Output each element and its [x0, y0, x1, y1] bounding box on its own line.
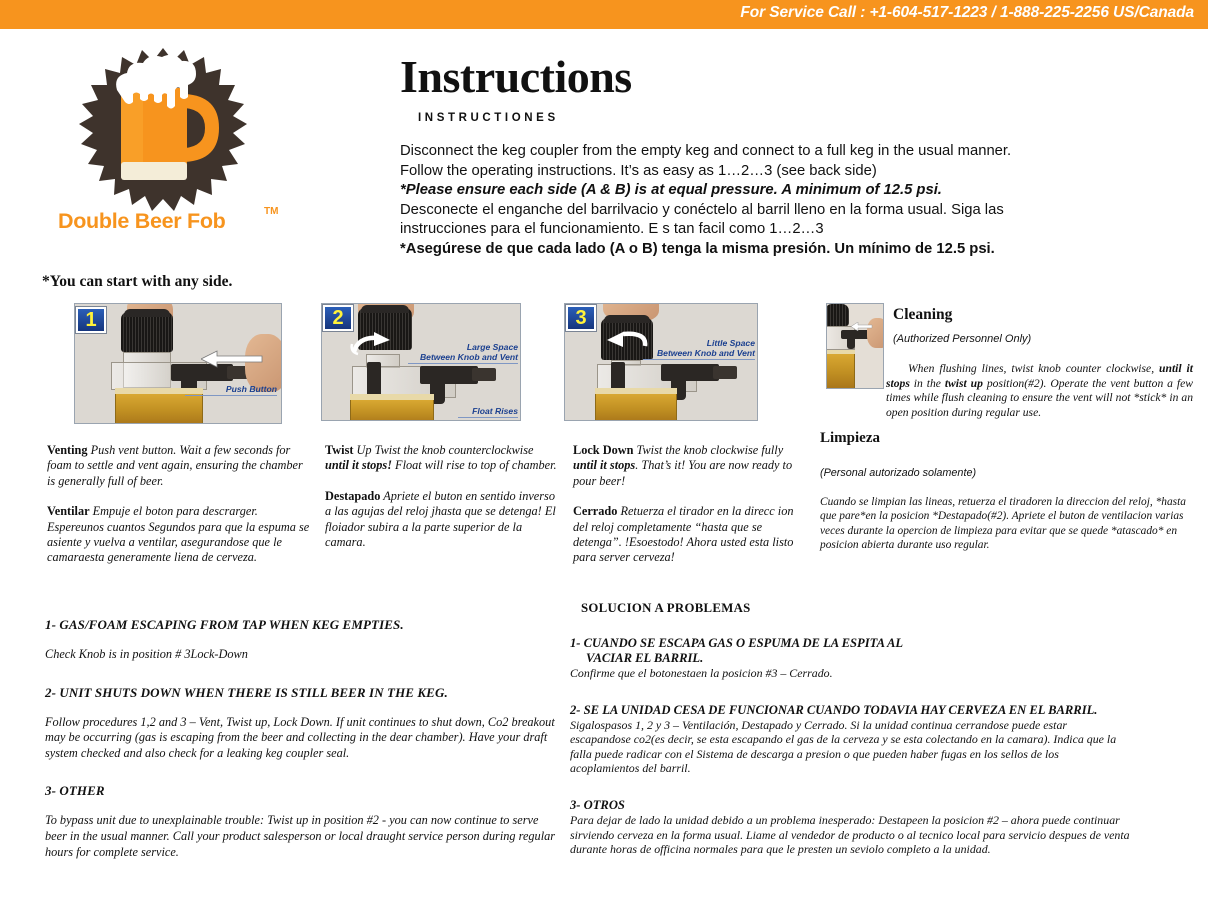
header-line-6-pressure-warning-spanish: *Asegúrese de que cada lado (A o B) teng… — [400, 240, 1190, 260]
left-arrow-icon — [851, 322, 873, 331]
trouble-en-head-2: 2- UNIT SHUTS DOWN WHEN THERE IS STILL B… — [45, 685, 557, 701]
trouble-en-item-2: 2- UNIT SHUTS DOWN WHEN THERE IS STILL B… — [45, 685, 557, 762]
spout-graphic — [661, 364, 719, 381]
step-badge-2: 2 — [323, 305, 353, 331]
knob-top-graphic — [361, 305, 409, 313]
instructions-header: Instructions INSTRUCTIONES Disconnect th… — [400, 50, 1190, 259]
limpieza-subtitle: (Personal autorizado solamente) — [820, 467, 1192, 479]
trademark-symbol: TM — [264, 206, 278, 217]
header-line-3-pressure-warning: *Please ensure each side (A & B) is at e… — [400, 181, 1190, 201]
left-arrow-icon — [201, 350, 263, 368]
cleaning-subtitle: (Authorized Personnel Only) — [893, 333, 1193, 345]
spout-graphic — [420, 366, 478, 384]
step-3-description: Lock Down Twist the knob clockwise fully… — [573, 443, 805, 566]
trouble-es-body-1: Confirme que el botonestaen la posicion … — [570, 666, 1130, 681]
step-1-es: Ventilar Empuje el boton para descrarger… — [47, 504, 310, 566]
cleaning-photo-thumbnail — [826, 303, 884, 389]
limpieza-title: Limpieza — [820, 430, 1192, 447]
clockwise-arrow-icon — [597, 330, 649, 354]
trouble-en-head-1: 1- GAS/FOAM ESCAPING FROM TAP WHEN KEG E… — [45, 617, 557, 633]
trouble-es-body-2: Sigalospasos 1, 2 y 3 – Ventilación, Des… — [570, 718, 1130, 776]
starburst-logo-icon — [72, 46, 254, 214]
step-3-es: Cerrado Retuerza el tirador en la direcc… — [573, 504, 805, 566]
panel-2-label-float-rises: Float Rises — [458, 406, 518, 418]
step-badge-3: 3 — [566, 305, 596, 331]
page-title-spanish: INSTRUCTIONES — [418, 112, 1190, 124]
header-line-4: Desconecte el enganche del barrilvacio y… — [400, 201, 1190, 221]
panel-2-label-large-space: Large SpaceBetween Knob and Vent — [408, 342, 518, 364]
step-1-en: Venting Push vent button. Wait a few sec… — [47, 443, 310, 489]
service-call-bar: For Service Call : +1-604-517-1223 / 1-8… — [0, 0, 1208, 29]
troubleshooting-spanish: SOLUCION A PROBLEMAS 1- CUANDO SE ESCAPA… — [570, 601, 1130, 857]
limpieza-body: Cuando se limpian las lineas, retuerza e… — [820, 495, 1192, 552]
knob-graphic — [826, 304, 849, 326]
troubleshooting-english: 1- GAS/FOAM ESCAPING FROM TAP WHEN KEG E… — [45, 617, 557, 882]
panel-3-label-little-space: Little SpaceBetween Knob and Vent — [643, 338, 755, 360]
step-badge-1: 1 — [76, 307, 106, 333]
trouble-es-head-1: 1- CUANDO SE ESCAPA GAS O ESPUMA DE LA E… — [570, 636, 1130, 666]
logo-wordmark: Double Beer Fob — [58, 209, 288, 234]
troubleshooting-spanish-title: SOLUCION A PROBLEMAS — [581, 601, 1130, 616]
trouble-es-item-1: 1- CUANDO SE ESCAPA GAS O ESPUMA DE LA E… — [570, 636, 1130, 681]
beer-liquid-graphic — [115, 394, 203, 424]
step-2-es: Destapado Apriete el buton en sentido in… — [325, 489, 560, 551]
vent-button-graphic — [713, 366, 737, 379]
knob-top-graphic — [604, 315, 650, 323]
step-2-en: Twist Up Twist the knob counterclockwise… — [325, 443, 560, 474]
service-call-text: For Service Call : +1-604-517-1223 / 1-8… — [740, 4, 1194, 22]
trouble-en-item-1: 1- GAS/FOAM ESCAPING FROM TAP WHEN KEG E… — [45, 617, 557, 663]
cleaning-section: Cleaning (Authorized Personnel Only) Whe… — [893, 306, 1193, 345]
beer-liquid-graphic — [595, 394, 677, 421]
trouble-en-body-1: Check Knob is in position # 3Lock-Down — [45, 647, 557, 663]
header-paragraphs: Disconnect the keg coupler from the empt… — [400, 142, 1190, 259]
knob-graphic — [121, 312, 173, 352]
trouble-es-body-3: Para dejar de lado la unidad debido a un… — [570, 813, 1130, 857]
start-any-side-note: *You can start with any side. — [42, 273, 232, 291]
header-line-2: Follow the operating instructions. It’s … — [400, 162, 1190, 182]
trouble-en-head-3: 3- OTHER — [45, 783, 557, 799]
page-title: Instructions — [400, 50, 1190, 104]
trouble-es-head-3: 3- OTROS — [570, 798, 1130, 813]
trouble-en-body-2: Follow procedures 1,2 and 3 – Vent, Twis… — [45, 715, 557, 762]
beer-liquid-graphic — [350, 400, 434, 421]
beer-liquid-graphic — [826, 354, 855, 388]
header-line-1: Disconnect the keg coupler from the empt… — [400, 142, 1190, 162]
cleaning-body: When flushing lines, twist knob counter … — [886, 362, 1193, 420]
trouble-es-item-2: 2- SE LA UNIDAD CESA DE FUNCIONAR CUANDO… — [570, 703, 1130, 776]
step-2-description: Twist Up Twist the knob counterclockwise… — [325, 443, 560, 550]
trouble-es-item-3: 3- OTROS Para dejar de lado la unidad de… — [570, 798, 1130, 857]
panel-1-label-push-button: Push Button — [185, 384, 277, 396]
trouble-es-head-2: 2- SE LA UNIDAD CESA DE FUNCIONAR CUANDO… — [570, 703, 1130, 718]
trouble-en-body-3: To bypass unit due to unexplainable trou… — [45, 813, 557, 860]
spout-elbow-graphic — [847, 337, 855, 349]
cleaning-title: Cleaning — [893, 306, 1193, 324]
step-1-description: Venting Push vent button. Wait a few sec… — [47, 443, 310, 566]
counterclockwise-arrow-icon — [350, 332, 392, 358]
brand-logo: Double Beer Fob TM — [58, 46, 308, 246]
trouble-en-item-3: 3- OTHER To bypass unit due to unexplain… — [45, 783, 557, 860]
vent-button-graphic — [472, 368, 496, 381]
knob-top-graphic — [124, 309, 170, 317]
header-line-5: instrucciones para el funcionamiento. E … — [400, 220, 1190, 240]
limpieza-section: Limpieza (Personal autorizado solamente)… — [820, 430, 1192, 552]
step-3-en: Lock Down Twist the knob clockwise fully… — [573, 443, 805, 489]
